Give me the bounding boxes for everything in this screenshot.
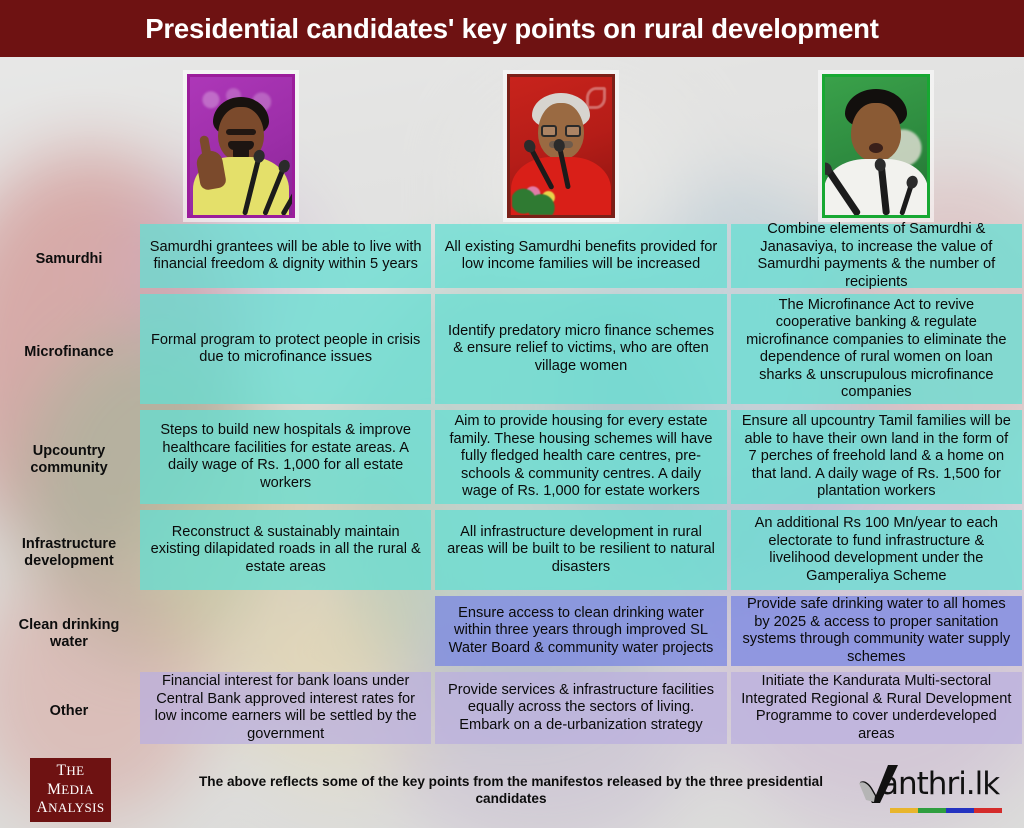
table-row: Clean drinkingwater Ensure access to cle…: [0, 596, 1024, 672]
candidate-photo-3-frame: [822, 74, 930, 218]
row-label-clean-drinking-water: Clean drinkingwater: [0, 596, 138, 672]
cell-samurdhi-candidate-3: Combine elements of Samurdhi & Janasaviy…: [731, 224, 1022, 288]
cell-microfinance-candidate-2: Identify predatory micro finance schemes…: [435, 294, 726, 404]
table-row: Infrastructuredevelopment Reconstruct & …: [0, 510, 1024, 596]
logo-line-2: MEDIA: [47, 781, 94, 800]
brand-wordmark: anthri.lk: [880, 766, 999, 802]
infographic-page: Presidential candidates' key points on r…: [0, 0, 1024, 828]
comparison-matrix: Samurdhi Samurdhi grantees will be able …: [0, 224, 1024, 750]
page-title: Presidential candidates' key points on r…: [145, 13, 878, 45]
candidate-photo-1: [183, 70, 299, 222]
table-row: Upcountrycommunity Steps to build new ho…: [0, 410, 1024, 510]
cell-infrastructure-candidate-1: Reconstruct & sustainably maintain exist…: [140, 510, 431, 590]
cell-upcountry-candidate-3: Ensure all upcountry Tamil families will…: [731, 410, 1022, 504]
the-media-analysis-logo: THE MEDIA ANALYSIS: [30, 758, 111, 822]
cell-microfinance-candidate-1: Formal program to protect people in cris…: [140, 294, 431, 404]
cell-upcountry-candidate-2: Aim to provide housing for every estate …: [435, 410, 726, 504]
cell-other-candidate-1: Financial interest for bank loans under …: [140, 672, 431, 744]
cell-other-candidate-3: Initiate the Kandurata Multi-sectoral In…: [731, 672, 1022, 744]
candidate-photo-2: [503, 70, 619, 222]
candidate-portrait-1: [190, 77, 292, 215]
candidate-photo-strip: [0, 60, 1024, 220]
cell-upcountry-candidate-1: Steps to build new hospitals & improve h…: [140, 410, 431, 504]
cell-other-candidate-2: Provide services & infrastructure facili…: [435, 672, 726, 744]
brand-color-bars: [890, 808, 1002, 813]
candidate-photo-2-frame: [507, 74, 615, 218]
cell-water-candidate-1: [140, 596, 431, 666]
cell-samurdhi-candidate-2: All existing Samurdhi benefits provided …: [435, 224, 726, 288]
candidate-photo-3: [818, 70, 934, 222]
cell-infrastructure-candidate-2: All infrastructure development in rural …: [435, 510, 726, 590]
table-row: Samurdhi Samurdhi grantees will be able …: [0, 224, 1024, 294]
row-label-samurdhi: Samurdhi: [0, 224, 138, 294]
cell-water-candidate-3: Provide safe drinking water to all homes…: [731, 596, 1022, 666]
footer: THE MEDIA ANALYSIS The above reflects so…: [0, 752, 1024, 828]
flower-bouquet-icon: [512, 169, 564, 215]
row-label-other: Other: [0, 672, 138, 750]
table-row: Microfinance Formal program to protect p…: [0, 294, 1024, 410]
disclaimer-text: The above reflects some of the key point…: [186, 773, 836, 807]
candidate-portrait-3: [825, 77, 927, 215]
row-label-microfinance: Microfinance: [0, 294, 138, 410]
candidate-photo-1-frame: [187, 74, 295, 218]
row-label-upcountry-community: Upcountrycommunity: [0, 410, 138, 510]
table-row: Other Financial interest for bank loans …: [0, 672, 1024, 750]
row-label-infrastructure-development: Infrastructuredevelopment: [0, 510, 138, 596]
logo-line-3: ANALYSIS: [37, 799, 105, 818]
manthri-lk-logo[interactable]: anthri.lk: [858, 764, 1008, 818]
cell-microfinance-candidate-3: The Microfinance Act to revive cooperati…: [731, 294, 1022, 404]
candidate-portrait-2: [510, 77, 612, 215]
logo-line-1: THE: [56, 762, 84, 781]
cell-infrastructure-candidate-3: An additional Rs 100 Mn/year to each ele…: [731, 510, 1022, 590]
title-bar: Presidential candidates' key points on r…: [0, 0, 1024, 57]
cell-water-candidate-2: Ensure access to clean drinking water wi…: [435, 596, 726, 666]
cell-samurdhi-candidate-1: Samurdhi grantees will be able to live w…: [140, 224, 431, 288]
eyeglasses-icon: [541, 125, 581, 137]
